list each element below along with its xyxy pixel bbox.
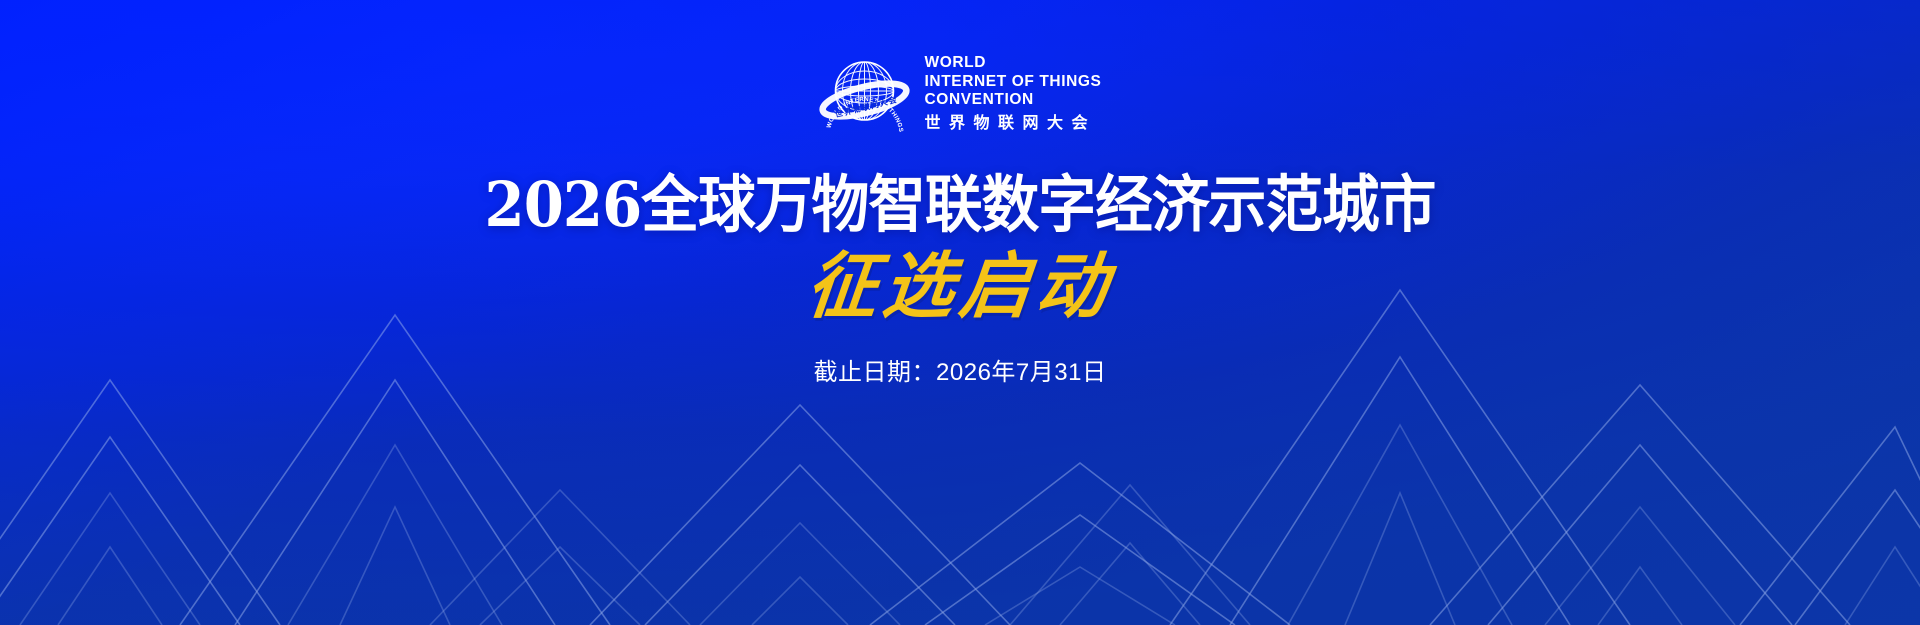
logo-cn-line: 世界物联网大会 <box>925 114 1102 134</box>
mountain-peaks-pattern <box>0 285 1920 625</box>
logo-wordmark: WORLD INTERNET OF THINGS CONVENTION 世界物联… <box>925 54 1102 134</box>
peak-group-5 <box>1170 290 1630 625</box>
peak-group-3 <box>590 405 1010 625</box>
wiotc-logo-lockup[interactable]: WORLD INTERNET OF THINGS CONVENTION 世界物联… <box>819 48 1102 140</box>
page-subtitle: 征选启动 <box>15 243 1906 329</box>
globe-emblem-icon: WORLD INTERNET OF THINGS CONVENTION 世界物联… <box>819 48 911 140</box>
logo-en-line-3: CONVENTION <box>925 91 1102 110</box>
logo-en-line-2: INTERNET OF THINGS <box>925 73 1102 92</box>
peak-group-1 <box>0 380 280 625</box>
logo-en-line-1: WORLD <box>925 54 1102 73</box>
deadline-text: 截止日期：2026年7月31日 <box>0 358 1920 388</box>
event-banner: WORLD INTERNET OF THINGS CONVENTION 世界物联… <box>0 0 1920 625</box>
page-title: 2026全球万物智联数字经济示范城市 <box>67 170 1853 240</box>
